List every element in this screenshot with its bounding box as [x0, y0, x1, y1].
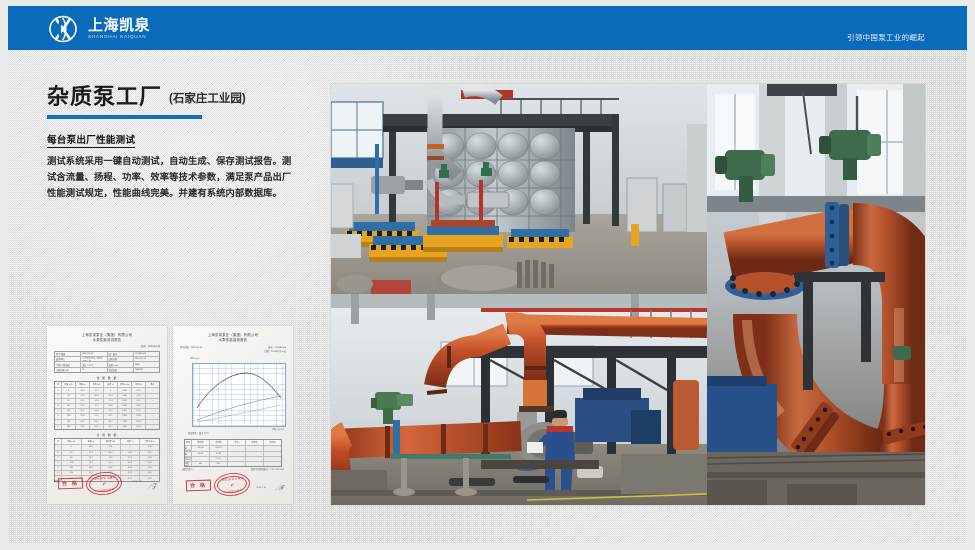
photo-collage: [331, 84, 925, 505]
cell: 160: [62, 466, 82, 470]
curve-sign-note: 试验负责人：: [182, 467, 195, 471]
cell: 额定扬程 H(m): [185, 452, 192, 456]
column-header: 电流 A: [132, 382, 146, 387]
curve-summary-table: 项 目额定值实测值单 位标准值结论值额定流量 Q(m³/h)200.00203.…: [184, 439, 282, 467]
column-header: 备注: [146, 382, 159, 387]
curve-meta-left: 型号规格：NSP150-50: [180, 345, 202, 353]
logo-chinese-name: 上海凯泉: [88, 18, 150, 33]
cell: [246, 446, 264, 450]
cell: 6: [55, 471, 62, 475]
cell: 80: [62, 399, 76, 403]
cell: —: [146, 425, 159, 429]
column-header: 效率 %: [104, 382, 118, 387]
cell: 27.4: [121, 456, 141, 460]
report-section2-label: 计 算 数 据: [54, 433, 160, 437]
column-header: 扬程 m: [82, 439, 102, 444]
cell: GB3216: [134, 368, 159, 372]
cell: 0: [104, 388, 118, 392]
curve-y-axis-label: 扬程 H(m): [190, 357, 199, 360]
report-info-table: 型号/规格NSP150-50出厂编号1203A1468 使用单位上海凯泉泵业（集…: [54, 351, 160, 373]
cell: —: [146, 420, 159, 424]
cell: 53.4: [82, 461, 102, 465]
logo-wordmark: 上海凯泉 SHANGHAI KAIQUAN: [88, 18, 150, 40]
cell: 54.6: [101, 466, 121, 470]
cell: 3.52: [140, 461, 159, 465]
cell: 43.1: [210, 462, 228, 466]
cell: 主机功率 kW: [55, 368, 81, 372]
cell: [192, 457, 210, 461]
body-paragraph: 测试系统采用一键自动测试，自动生成、保存测试报告。测试含流量、扬程、功率、效率等…: [47, 154, 300, 202]
report-content: 上海凯泉泵业（集团）有限公司 水泵性能测试报告 日期：2014年1月 型号/规格…: [54, 333, 160, 497]
cell: [264, 452, 281, 456]
cell: 测试标准: [108, 368, 134, 372]
cell: 2014-01-10: [134, 357, 159, 361]
chart-curves: [193, 364, 285, 426]
cell: 7: [55, 420, 62, 424]
cell: 27.4: [104, 399, 118, 403]
cell: 使用单位: [55, 357, 81, 361]
cell: 200.00: [192, 446, 210, 450]
cell: 4.10: [140, 471, 159, 475]
report-performance-table: 序流量 m³/h扬程 m功率 kW效率 %转速 r/min电流 A备注1058.…: [54, 381, 160, 430]
cell: 50.2: [101, 461, 121, 465]
cell: 40.0: [121, 466, 141, 470]
cell: 5: [55, 409, 62, 413]
cell: 40: [62, 394, 76, 398]
performance-curve-chart: [192, 363, 286, 427]
cell: 效率 η(%): [185, 462, 192, 466]
cell: 0: [121, 445, 141, 449]
title-row: 杂质泵工厂 (石家庄工业园): [47, 86, 317, 108]
cell: —: [146, 404, 159, 408]
cell: 4.62: [140, 476, 159, 480]
cell: 16.4: [104, 394, 118, 398]
cell: 80: [62, 456, 82, 460]
cell: 清水 / 20℃: [81, 362, 107, 366]
cell: 轴功率 P(kW): [185, 457, 192, 461]
cell: 4: [55, 404, 62, 408]
curve-meta-right2: 日期：2014年1月10日: [264, 349, 286, 353]
cell: 71.4: [132, 394, 146, 398]
report-section1-label: 性 能 数 据: [54, 376, 160, 380]
cell: 38.4: [101, 451, 121, 455]
cell: [228, 462, 246, 466]
cell: 43.2: [104, 425, 118, 429]
cell: 额定流量 Q(m³/h): [185, 446, 192, 450]
curve-inspect-note: 检验专用章授权号：LPC-TR-2014: [251, 467, 284, 471]
column-header: 轴功率 kW: [101, 439, 121, 444]
column-header: 项 目: [185, 440, 192, 445]
cell: 58.2: [76, 388, 90, 392]
cell: 2: [55, 451, 62, 455]
page-subtitle: (石家庄工业园): [169, 90, 246, 108]
cell: 59.4: [90, 420, 104, 424]
cell: —: [146, 399, 159, 403]
cell: 型号/规格: [55, 352, 81, 356]
cell: 57.6: [82, 451, 102, 455]
cell: 32.1: [101, 445, 121, 449]
cell: 54.6: [90, 409, 104, 413]
report-date: 2014.1.10: [132, 481, 142, 483]
cell: 50.1: [82, 466, 102, 470]
cell: 45.82: [210, 452, 228, 456]
cell: 57.9: [210, 457, 228, 461]
cell: 3.78: [140, 466, 159, 470]
photo-pump-test-rig-operator[interactable]: [331, 294, 707, 505]
photo-pump-pipeline-elbow[interactable]: [707, 84, 925, 505]
column-header: 序: [55, 439, 62, 444]
cell: [228, 457, 246, 461]
cell: 2: [55, 394, 62, 398]
cell: 40: [62, 451, 82, 455]
curve-x-axis-label: 流量 Q(m³/h): [272, 428, 284, 431]
cell: 3: [55, 456, 62, 460]
cell: —: [146, 394, 159, 398]
column-header: 序: [55, 382, 62, 387]
cell: 上海凯泉泵业（集团）有限公司: [81, 357, 107, 361]
table-row: 主机功率 kW55测试标准GB3216: [55, 368, 159, 372]
cell: 1480: [118, 394, 132, 398]
cell: 1480: [118, 425, 132, 429]
column-header: 转速 r/min: [118, 382, 132, 387]
cell: 0: [62, 388, 76, 392]
cell: 33.5: [76, 425, 90, 429]
cell: 34.8: [121, 461, 141, 465]
cell: 280: [62, 425, 76, 429]
cell: —: [146, 388, 159, 392]
cell: 120: [62, 404, 76, 408]
cell: 32.1: [90, 388, 104, 392]
column-header: 实测值: [210, 440, 228, 445]
cell: [246, 452, 264, 456]
cell: 1: [55, 445, 62, 449]
header-tagline: 引领中国泵工业的崛起: [847, 32, 925, 43]
cell: [264, 462, 281, 466]
cell: 200: [62, 414, 76, 418]
cell: —: [146, 414, 159, 418]
company-seal-stamp: 上海凯泉泵业集团 产品检验专用章: [213, 471, 251, 498]
column-header: 单 位: [228, 440, 246, 445]
cell: 试验日期: [108, 357, 134, 361]
cell: 50.2: [90, 404, 104, 408]
column-header: 汽蚀余量 m: [140, 439, 159, 444]
logo-english-name: SHANGHAI KAIQUAN: [88, 35, 151, 40]
cell: 40.2: [76, 420, 90, 424]
cell: 120: [62, 461, 82, 465]
body-heading: 每台泵出厂性能测试: [47, 132, 135, 148]
report-title-line2: 水泵性能测试报告: [54, 338, 160, 343]
slide: 上海凯泉 SHANGHAI KAIQUAN 引领中国泵工业的崛起 杂质泵工厂 (…: [0, 0, 975, 550]
signature-mark: ⟋𝓕: [275, 485, 285, 493]
page-title: 杂质泵工厂: [47, 86, 162, 108]
curve-date: 2014.1.10: [256, 487, 266, 489]
cell: 40.0: [104, 409, 118, 413]
cell: 34.8: [104, 404, 118, 408]
curve-note: 测试条件：清水 20℃: [188, 431, 209, 435]
cell: 1480: [118, 409, 132, 413]
cell: 1203A1468: [134, 352, 159, 356]
cell: 57.9: [90, 414, 104, 418]
cell: 97.6: [132, 409, 146, 413]
cell: NSP150-50: [81, 352, 107, 356]
cell: 43.1: [121, 471, 141, 475]
cell: 45.00: [192, 452, 210, 456]
cell: 3: [55, 399, 62, 403]
cell: 200: [62, 471, 82, 475]
cell: 1: [55, 388, 62, 392]
column-header: 额定值: [192, 440, 210, 445]
cell: 103.4: [132, 414, 146, 418]
cell: 81.2: [132, 399, 146, 403]
cell: 57.6: [76, 394, 90, 398]
cell: 44.2: [104, 420, 118, 424]
document-performance-curve[interactable]: 上海凯泉泵业（集团）有限公司 水泵性能曲线报告 型号规格：NSP150-50 编…: [173, 326, 293, 504]
cell: 转速 r/min: [108, 362, 134, 366]
cell: 1480: [118, 404, 132, 408]
kaiquan-logo-icon: [48, 15, 82, 43]
cell: 58.2: [82, 445, 102, 449]
cell: 160: [62, 409, 76, 413]
cell: ≥40: [192, 462, 210, 466]
cell: 44.8: [90, 399, 104, 403]
cell: 53.4: [76, 404, 90, 408]
column-header: 流量 m³/h: [62, 439, 82, 444]
cell: 38.4: [90, 394, 104, 398]
table-row: 效率 η(%)≥4043.1: [185, 462, 281, 466]
cell: 203.15: [210, 446, 228, 450]
column-header: 标准值: [246, 440, 264, 445]
company-logo: 上海凯泉 SHANGHAI KAIQUAN: [48, 14, 208, 44]
cell: 45.8: [76, 414, 90, 418]
cell: 4: [55, 461, 62, 465]
cell: 5: [55, 466, 62, 470]
cell: 55: [81, 368, 107, 372]
cell: 1480: [118, 399, 132, 403]
column-header: 流量 m³/h: [62, 382, 76, 387]
cell: 出厂编号: [108, 352, 134, 356]
cell: 43.1: [104, 414, 118, 418]
cell: [264, 446, 281, 450]
cell: 0: [62, 445, 82, 449]
header-bar: 上海凯泉 SHANGHAI KAIQUAN 引领中国泵工业的崛起: [8, 6, 967, 50]
cell: 1480: [118, 388, 132, 392]
cell: 1480: [118, 420, 132, 424]
cell: 56.1: [76, 399, 90, 403]
photo-pump-test-hall-overview[interactable]: [331, 84, 707, 294]
cell: 105.6: [132, 425, 146, 429]
cell: [246, 462, 264, 466]
cell: 62.1: [132, 388, 146, 392]
document-test-report[interactable]: 上海凯泉泵业（集团）有限公司 水泵性能测试报告 日期：2014年1月 型号/规格…: [47, 326, 167, 504]
cell: 90.3: [132, 404, 146, 408]
report-meta: 日期：2014年1月: [54, 344, 160, 348]
table-row: 828033.559.143.21480105.6—: [55, 425, 159, 429]
cell: 1480: [118, 414, 132, 418]
cell: 44.8: [101, 456, 121, 460]
page-title-block: 杂质泵工厂 (石家庄工业园): [47, 86, 317, 119]
column-header: 结论值: [264, 440, 281, 445]
cell: 8: [55, 425, 62, 429]
cell: 50.1: [76, 409, 90, 413]
cell: 3.25: [140, 451, 159, 455]
curve-content: 上海凯泉泵业（集团）有限公司 水泵性能曲线报告 型号规格：NSP150-50 编…: [180, 333, 286, 497]
body-text-block: 每台泵出厂性能测试 测试系统采用一键自动测试，自动生成、保存测试报告。测试含流量…: [47, 130, 300, 202]
qualified-stamp: 合 格: [186, 480, 211, 492]
column-header: 功率 kW: [90, 382, 104, 387]
cell: 240: [62, 420, 76, 424]
cell: —: [146, 409, 159, 413]
cell: 6: [55, 414, 62, 418]
signature-mark: ⟋𝓩: [147, 483, 156, 491]
cell: [228, 446, 246, 450]
title-underline-rule: [47, 115, 202, 119]
cell: [246, 457, 264, 461]
cell: 106.1: [132, 420, 146, 424]
cell: 介质/介质温度: [55, 362, 81, 366]
cell: 3.20: [140, 445, 159, 449]
qualified-stamp: 合 格: [58, 478, 83, 490]
cell: 59.1: [90, 425, 104, 429]
column-header: 效率 %: [121, 439, 141, 444]
cell: 16.4: [121, 451, 141, 455]
cell: 1480: [134, 362, 159, 366]
column-header: 扬程 m: [76, 382, 90, 387]
cell: 3.34: [140, 456, 159, 460]
cell: [264, 457, 281, 461]
cell: 56.1: [82, 456, 102, 460]
curve-title-line2: 水泵性能曲线报告: [180, 338, 286, 343]
cell: [228, 452, 246, 456]
